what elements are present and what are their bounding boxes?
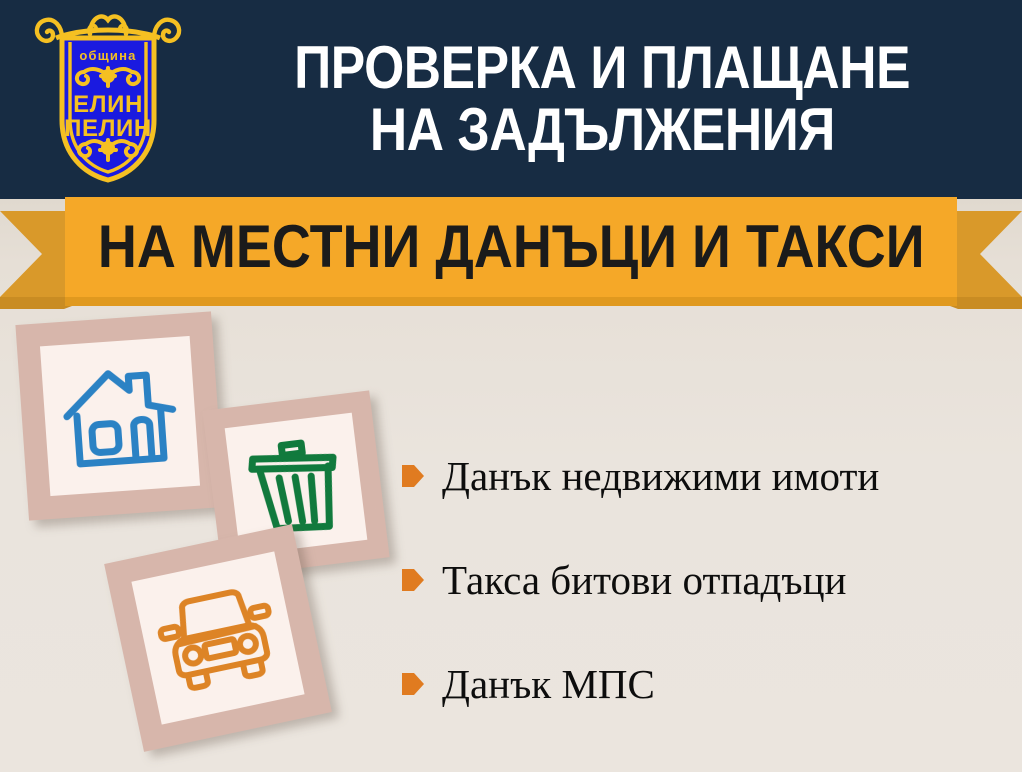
poster-canvas: община ЕЛИН ПЕЛИН ПРОВЕРКА И ПЛАЩАНЕ НА … <box>0 0 1022 772</box>
list-item-label: Такса битови отпадъци <box>442 560 846 601</box>
stamp-vehicle-inner <box>131 551 304 724</box>
trash-bin-icon <box>242 427 350 542</box>
page-title-line-2: НА ЗАДЪЛЖЕНИЯ <box>369 99 834 161</box>
page-title-line-1: ПРОВЕРКА И ПЛАЩАНЕ <box>294 37 910 99</box>
ribbon-panel: НА МЕСТНИ ДАНЪЦИ И ТАКСИ <box>65 197 957 297</box>
subtitle-ribbon: НА МЕСТНИ ДАНЪЦИ И ТАКСИ <box>0 197 1022 307</box>
scallop-edge-left <box>6 324 38 521</box>
list-item[interactable]: Данък МПС <box>402 632 1012 736</box>
list-item-label: Данък МПС <box>442 664 655 705</box>
arrow-bullet-icon <box>402 671 424 697</box>
list-item[interactable]: Данък недвижими имоти <box>402 424 1012 528</box>
stamp-house-paper <box>15 311 224 520</box>
stamp-house-inner <box>40 336 200 496</box>
crest-name-line1: ЕЛИН <box>73 91 143 118</box>
scallop-edge-bottom <box>28 498 225 530</box>
stamp-vehicle-paper <box>104 524 332 752</box>
list-item[interactable]: Такса битови отпадъци <box>402 528 1012 632</box>
ribbon-panel-shade <box>65 297 957 306</box>
crest-name-line2: ПЕЛИН <box>64 115 152 142</box>
arrow-bullet-icon <box>402 567 424 593</box>
header-banner: община ЕЛИН ПЕЛИН ПРОВЕРКА И ПЛАЩАНЕ НА … <box>0 0 1022 199</box>
arrow-bullet-icon <box>402 463 424 489</box>
car-icon <box>150 577 286 699</box>
ribbon-label: НА МЕСТНИ ДАНЪЦИ И ТАКСИ <box>98 217 925 277</box>
tax-type-list: Данък недвижими имоти Такса битови отпад… <box>402 424 1012 736</box>
house-icon <box>57 357 182 475</box>
stamp-vehicle <box>104 524 332 752</box>
coat-of-arms-elin-pelin: община ЕЛИН ПЕЛИН <box>28 8 188 186</box>
stamp-house <box>15 311 224 520</box>
page-title: ПРОВЕРКА И ПЛАЩАНЕ НА ЗАДЪЛЖЕНИЯ <box>196 16 1008 182</box>
list-item-label: Данък недвижими имоти <box>442 456 879 497</box>
crest-top-label: община <box>79 48 136 63</box>
